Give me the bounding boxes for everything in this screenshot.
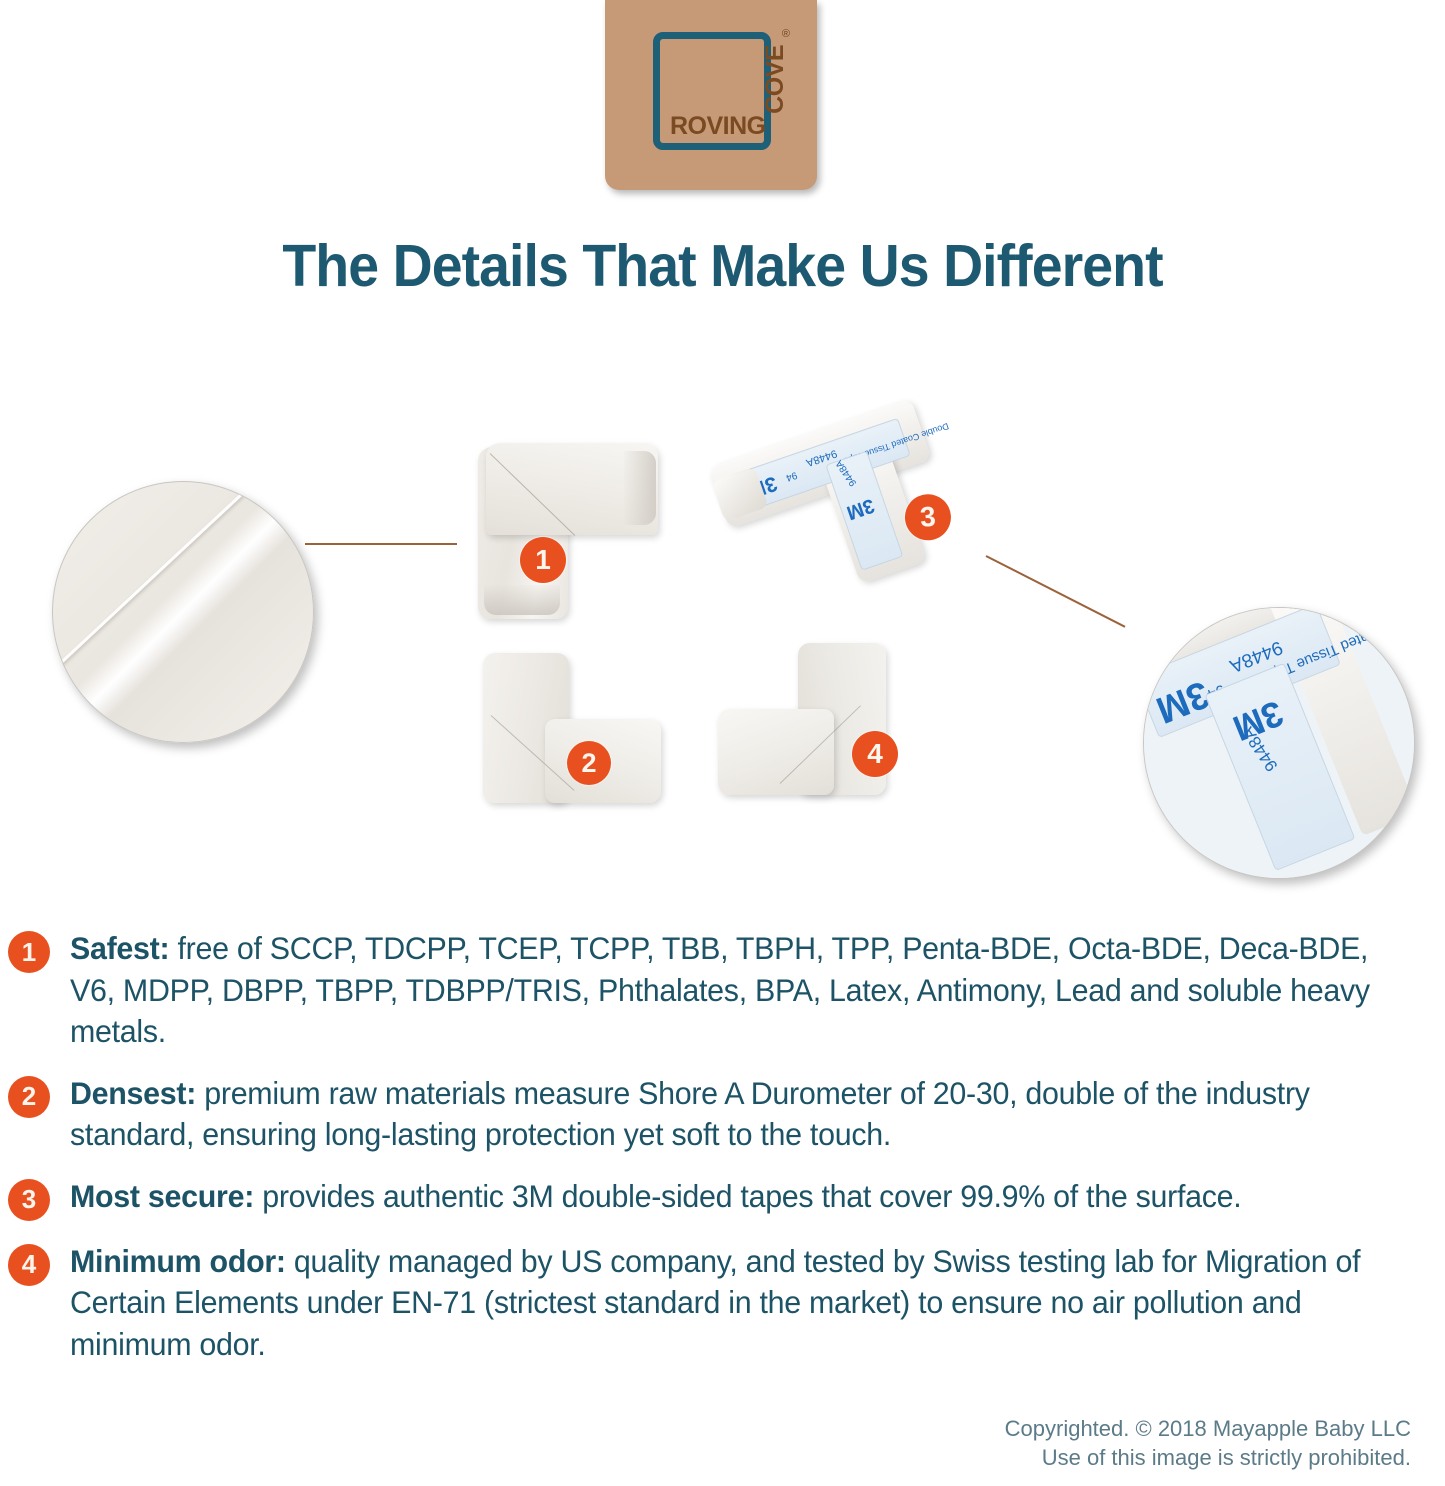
foam-seam-line [52,481,285,681]
feature-text-3: Most secure: provides authentic 3M doubl… [70,1176,1241,1218]
tape-shortcode-label: 94 [784,469,798,483]
product-corner-guard-4: 4 [718,643,896,811]
guard-end-cap-right [624,451,656,525]
registered-trademark-icon: ® [782,28,790,40]
copyright-line-2: Use of this image is strictly prohibited… [1005,1443,1411,1472]
feature-label-4: Minimum odor: [70,1243,286,1279]
feature-body-3: provides authentic 3M double-sided tapes… [254,1178,1241,1214]
infographic-page: ROVING COVE ® The Details That Make Us D… [0,0,1445,1486]
feature-badge-3: 3 [8,1179,50,1221]
callout-badge-2: 2 [567,741,611,785]
feature-item-3: 3 Most secure: provides authentic 3M dou… [0,1176,1445,1221]
tape-brand-label-2: 3M [843,493,877,524]
feature-text-4: Minimum odor: quality managed by US comp… [70,1241,1397,1366]
copyright-line-1: Copyrighted. © 2018 Mayapple Baby LLC [1005,1414,1411,1443]
feature-item-2: 2 Densest: premium raw materials measure… [0,1073,1445,1156]
page-title: The Details That Make Us Different [43,232,1401,300]
closeup-tape-brand: 3M [1150,671,1215,731]
feature-label-2: Densest: [70,1075,196,1111]
feature-badge-1: 1 [8,931,50,973]
product-corner-guard-1: 1 [478,435,658,620]
logo-brand-cove: COVE [763,45,788,114]
feature-list: 1 Safest: free of SCCP, TDCPP, TCEP, TCP… [0,928,1445,1386]
connector-line-right [986,555,1126,628]
brand-logo: ROVING COVE ® [605,0,817,190]
feature-badge-2: 2 [8,1076,50,1118]
feature-body-1: free of SCCP, TDCPP, TCEP, TCPP, TBB, TB… [70,930,1370,1049]
logo-frame: ROVING COVE [653,32,771,150]
logo-brand-roving: ROVING [670,114,766,139]
feature-text-2: Densest: premium raw materials measure S… [70,1073,1397,1156]
guard-end-cap-bottom [484,585,560,615]
feature-label-3: Most secure: [70,1178,254,1214]
feature-text-1: Safest: free of SCCP, TDCPP, TCEP, TCPP,… [70,928,1397,1053]
product-diagram: 1 2 3M 94 9448A Double Coated Tissue Tap… [0,395,1445,895]
product-corner-guard-2: 2 [483,653,661,813]
callout-badge-4: 4 [852,731,898,777]
tape-closeup-scene: 3M 94 9448A Double Coated Tissue Tape 3M… [1143,607,1415,879]
tape-code-label-2: 9448A [834,458,859,488]
guard-arm-horizontal [718,709,834,795]
magnifier-tape-closeup: 3M 94 9448A Double Coated Tissue Tape 3M… [1143,607,1415,879]
product-corner-guard-3-with-tape: 3M 94 9448A Double Coated Tissue Tape 3M… [710,415,951,599]
magnifier-foam-closeup [52,481,314,743]
feature-item-1: 1 Safest: free of SCCP, TDCPP, TCEP, TCP… [0,928,1445,1053]
callout-badge-1: 1 [520,537,566,583]
copyright-notice: Copyrighted. © 2018 Mayapple Baby LLC Us… [1005,1414,1411,1473]
feature-item-4: 4 Minimum odor: quality managed by US co… [0,1241,1445,1366]
feature-badge-4: 4 [8,1244,50,1286]
feature-body-2: premium raw materials measure Shore A Du… [70,1075,1310,1153]
connector-line-left [305,543,457,545]
feature-label-1: Safest: [70,930,169,966]
